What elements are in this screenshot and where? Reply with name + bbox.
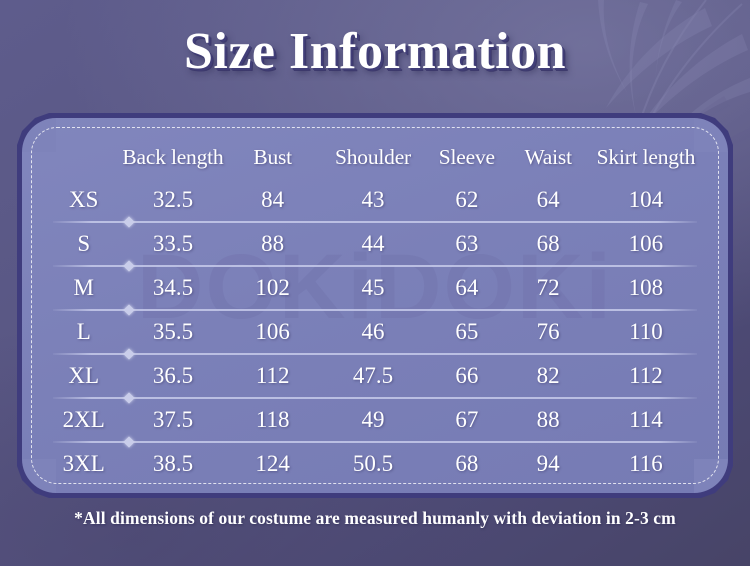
cell-shoulder: 50.5 (320, 443, 426, 484)
cell-sleeve: 62 (426, 179, 507, 220)
header-row: Back length Bust Shoulder Sleeve Waist S… (47, 135, 703, 179)
cell-skirt-length: 104 (589, 179, 703, 220)
table-row: S 33.5 88 44 63 68 106 (47, 223, 703, 264)
footer-container: *All dimensions of our costume are measu… (0, 508, 750, 529)
table-row: L 35.5 106 46 65 76 110 (47, 311, 703, 352)
cell-waist: 68 (507, 223, 588, 264)
header-back-length: Back length (120, 135, 225, 179)
cell-bust: 106 (225, 311, 319, 352)
cell-sleeve: 65 (426, 311, 507, 352)
table-row: M 34.5 102 45 64 72 108 (47, 267, 703, 308)
disclaimer-text: *All dimensions of our costume are measu… (0, 508, 750, 529)
cell-bust: 112 (225, 355, 319, 396)
cell-waist: 64 (507, 179, 588, 220)
page-title-container: Size Information (0, 24, 750, 80)
cell-size: S (47, 223, 120, 264)
table-row: 2XL 37.5 118 49 67 88 114 (47, 399, 703, 440)
cell-waist: 88 (507, 399, 588, 440)
cell-size: M (47, 267, 120, 308)
cell-shoulder: 47.5 (320, 355, 426, 396)
cell-waist: 76 (507, 311, 588, 352)
cell-bust: 124 (225, 443, 319, 484)
cell-sleeve: 68 (426, 443, 507, 484)
cell-sleeve: 63 (426, 223, 507, 264)
cell-back-length: 32.5 (120, 179, 225, 220)
cell-back-length: 34.5 (120, 267, 225, 308)
cell-waist: 72 (507, 267, 588, 308)
size-table-header: Back length Bust Shoulder Sleeve Waist S… (47, 135, 703, 179)
cell-skirt-length: 110 (589, 311, 703, 352)
cell-skirt-length: 106 (589, 223, 703, 264)
size-chart-image: Size Information DOKiDOKi Back length (0, 0, 750, 566)
cell-back-length: 33.5 (120, 223, 225, 264)
cell-size: 2XL (47, 399, 120, 440)
table-row: XL 36.5 112 47.5 66 82 112 (47, 355, 703, 396)
cell-sleeve: 67 (426, 399, 507, 440)
cell-shoulder: 44 (320, 223, 426, 264)
header-sleeve: Sleeve (426, 135, 507, 179)
cell-sleeve: 64 (426, 267, 507, 308)
page-title: Size Information (184, 24, 566, 80)
cell-back-length: 36.5 (120, 355, 225, 396)
cell-size: XL (47, 355, 120, 396)
cell-waist: 94 (507, 443, 588, 484)
cell-back-length: 38.5 (120, 443, 225, 484)
size-table-body: XS 32.5 84 43 62 64 104 (47, 179, 703, 484)
cell-size: 3XL (47, 443, 120, 484)
cell-skirt-length: 112 (589, 355, 703, 396)
cell-size: XS (47, 179, 120, 220)
cell-size: L (47, 311, 120, 352)
table-row: XS 32.5 84 43 62 64 104 (47, 179, 703, 220)
cell-skirt-length: 114 (589, 399, 703, 440)
cell-shoulder: 49 (320, 399, 426, 440)
size-table: Back length Bust Shoulder Sleeve Waist S… (47, 135, 703, 484)
header-waist: Waist (507, 135, 588, 179)
cell-sleeve: 66 (426, 355, 507, 396)
table-row: 3XL 38.5 124 50.5 68 94 116 (47, 443, 703, 484)
cell-skirt-length: 108 (589, 267, 703, 308)
size-table-panel: DOKiDOKi Back length Bust Shoulder Sleev… (17, 113, 733, 498)
cell-waist: 82 (507, 355, 588, 396)
cell-back-length: 35.5 (120, 311, 225, 352)
size-table-area: Back length Bust Shoulder Sleeve Waist S… (47, 135, 703, 480)
cell-skirt-length: 116 (589, 443, 703, 484)
cell-bust: 118 (225, 399, 319, 440)
header-bust: Bust (225, 135, 319, 179)
cell-bust: 88 (225, 223, 319, 264)
header-size (47, 135, 120, 179)
cell-shoulder: 43 (320, 179, 426, 220)
cell-bust: 84 (225, 179, 319, 220)
cell-shoulder: 45 (320, 267, 426, 308)
cell-shoulder: 46 (320, 311, 426, 352)
cell-back-length: 37.5 (120, 399, 225, 440)
header-shoulder: Shoulder (320, 135, 426, 179)
cell-bust: 102 (225, 267, 319, 308)
header-skirt-length: Skirt length (589, 135, 703, 179)
